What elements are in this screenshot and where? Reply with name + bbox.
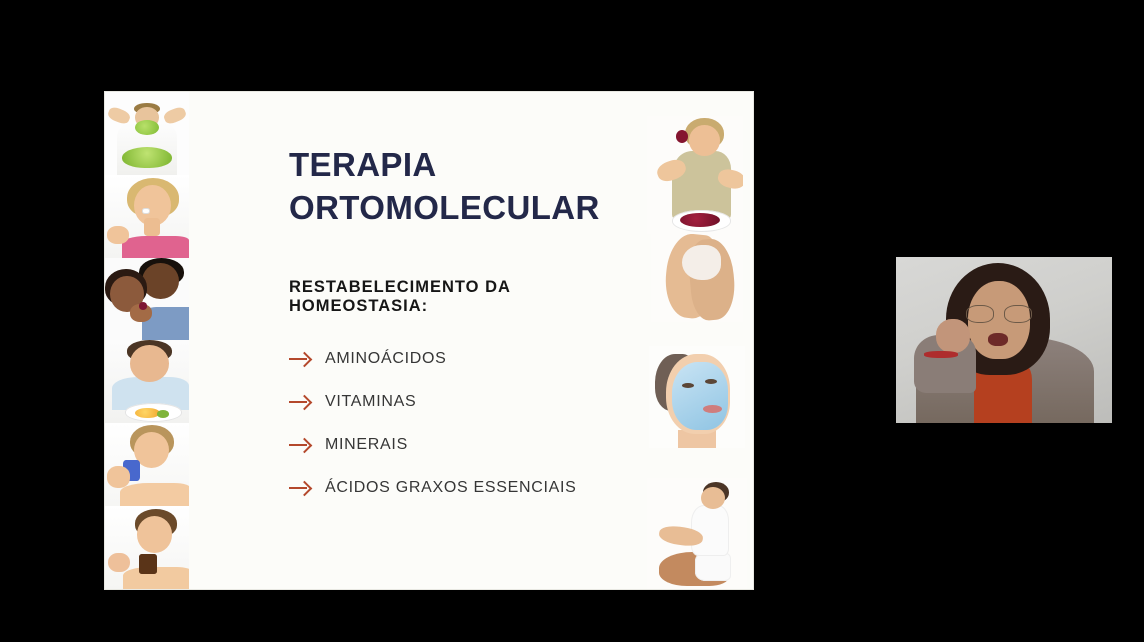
photo-woman-with-supplement — [105, 506, 189, 589]
bullet-label: VITAMINAS — [325, 393, 416, 411]
photo-woman-with-facial-mask — [649, 346, 745, 448]
list-item: ÁCIDOS GRAXOS ESSENCIAIS — [289, 479, 643, 497]
arrow-right-icon — [289, 481, 313, 495]
presenter-wristband — [924, 351, 958, 358]
arrow-right-icon — [289, 438, 313, 452]
slide-subtitle: RESTABELECIMENTO DA HOMEOSTASIA: — [289, 278, 643, 316]
photo-couple-eating-berry — [105, 258, 189, 341]
presentation-slide: TERAPIA ORTOMOLECULAR RESTABELECIMENTO D… — [105, 92, 753, 589]
photo-blonde-woman-taking-pill — [105, 175, 189, 258]
arrow-right-icon — [289, 395, 313, 409]
list-item: AMINOÁCIDOS — [289, 350, 643, 368]
bullet-label: AMINOÁCIDOS — [325, 350, 447, 368]
slide-text-column: TERAPIA ORTOMOLECULAR RESTABELECIMENTO D… — [189, 92, 643, 589]
photo-man-eating-plate-of-food — [105, 340, 189, 423]
photo-woman-drinking-from-bottle — [105, 423, 189, 506]
glasses-icon — [966, 305, 1032, 321]
bullet-label: MINERAIS — [325, 436, 408, 454]
arrow-right-icon — [289, 352, 313, 366]
slide-right-photo-column — [643, 92, 753, 589]
slide-bullet-list: AMINOÁCIDOS VITAMINAS MINERAIS ÁCIDOS GR… — [289, 350, 643, 497]
slide-title: TERAPIA ORTOMOLECULAR — [289, 144, 643, 230]
photo-woman-eating-cherries — [647, 116, 743, 234]
presenter-hand — [936, 319, 970, 353]
photo-body-legs-closeup — [651, 234, 743, 322]
list-item: MINERAIS — [289, 436, 643, 454]
slide-content: TERAPIA ORTOMOLECULAR RESTABELECIMENTO D… — [189, 92, 753, 589]
slide-photo-strip — [105, 92, 189, 589]
bullet-label: ÁCIDOS GRAXOS ESSENCIAIS — [325, 479, 577, 497]
presenter-video-feed[interactable] — [896, 257, 1112, 423]
photo-woman-meditating-lotus-pose — [647, 478, 747, 589]
video-call-stage: TERAPIA ORTOMOLECULAR RESTABELECIMENTO D… — [0, 0, 1144, 642]
presenter-mouth — [988, 333, 1008, 346]
list-item: VITAMINAS — [289, 393, 643, 411]
photo-man-holding-lettuce — [105, 92, 189, 175]
